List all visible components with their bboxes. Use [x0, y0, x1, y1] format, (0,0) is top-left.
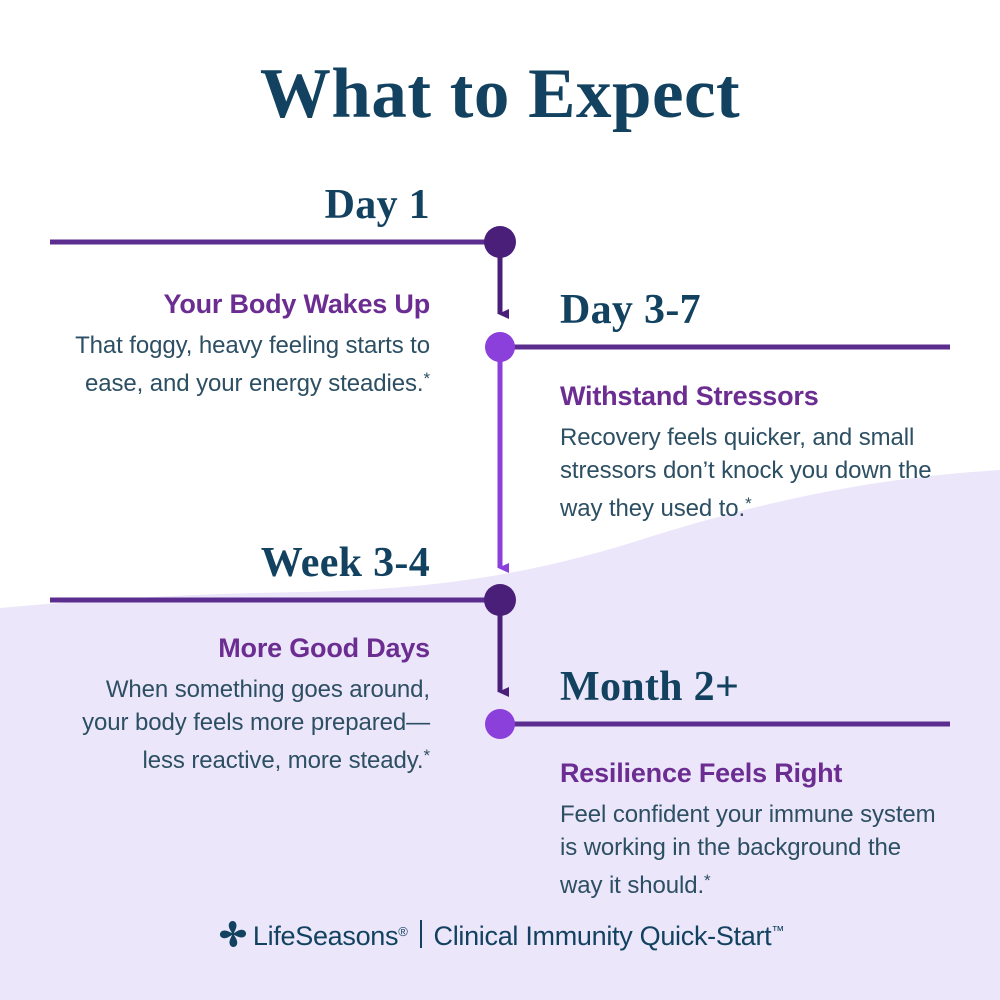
step-1-heading: Your Body Wakes Up — [60, 286, 430, 322]
timeline-dot-3 — [484, 584, 516, 616]
step-1-period: Day 1 — [60, 180, 430, 230]
step-2-heading: Withstand Stressors — [560, 378, 940, 414]
lifeseasons-pinwheel-icon — [216, 917, 250, 951]
timeline-dot-1 — [484, 226, 516, 258]
timeline-step-1: Day 1 Your Body Wakes Up That foggy, hea… — [60, 180, 430, 400]
step-3-body-text: When something goes around, your body fe… — [82, 676, 430, 774]
timeline-dot-4 — [485, 709, 515, 739]
footer-brand: LifeSeasons® — [253, 916, 408, 952]
step-1-body: That foggy, heavy feeling starts to ease… — [60, 329, 430, 400]
step-3-period: Week 3-4 — [60, 538, 430, 588]
step-4-body-text: Feel confident your immune system is wor… — [560, 801, 936, 899]
step-2-body: Recovery feels quicker, and small stress… — [560, 421, 940, 525]
infographic-canvas: What to Expect Day 1 Your Body Wakes Up — [0, 0, 1000, 1000]
timeline-dot-2 — [485, 332, 515, 362]
page-title: What to Expect — [0, 52, 1000, 136]
timeline-step-4: Month 2+ Resilience Feels Right Feel con… — [560, 662, 945, 902]
timeline-step-2: Day 3-7 Withstand Stressors Recovery fee… — [560, 285, 940, 525]
step-3-heading: More Good Days — [60, 630, 430, 666]
step-4-footnote-marker: * — [704, 871, 711, 890]
registered-mark: ® — [398, 924, 407, 939]
trademark-mark: ™ — [771, 923, 784, 938]
footer-brand-text: LifeSeasons — [253, 921, 398, 951]
footer-divider — [420, 920, 422, 948]
step-2-period: Day 3-7 — [560, 285, 940, 335]
footer-product-text: Clinical Immunity Quick-Start — [434, 921, 772, 951]
step-2-footnote-marker: * — [745, 494, 752, 513]
step-3-footnote-marker: * — [423, 746, 430, 765]
step-1-body-text: That foggy, heavy feeling starts to ease… — [75, 332, 430, 397]
step-3-body: When something goes around, your body fe… — [60, 673, 430, 777]
step-4-heading: Resilience Feels Right — [560, 755, 945, 791]
footer-product: Clinical Immunity Quick-Start™ — [434, 915, 785, 952]
footer: LifeSeasons® Clinical Immunity Quick-Sta… — [0, 915, 1000, 952]
step-4-period: Month 2+ — [560, 662, 945, 712]
step-4-body: Feel confident your immune system is wor… — [560, 798, 945, 902]
timeline-step-3: Week 3-4 More Good Days When something g… — [60, 538, 430, 777]
step-1-footnote-marker: * — [423, 369, 430, 388]
